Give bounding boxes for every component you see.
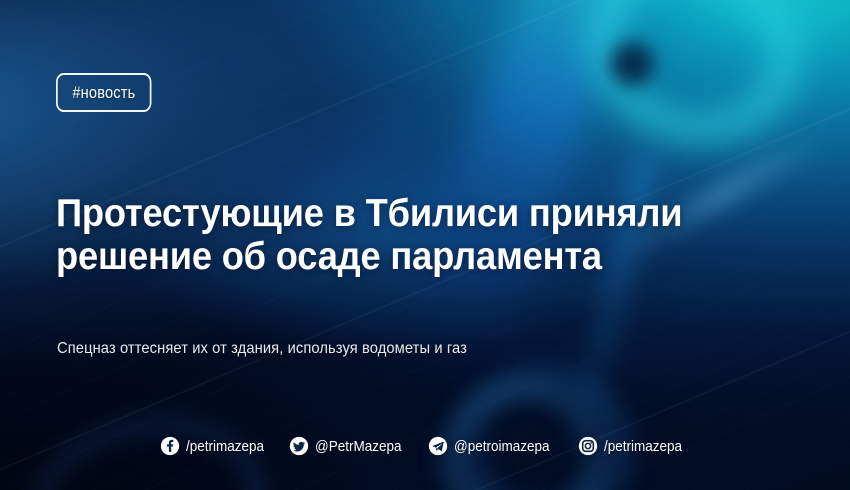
social-item-instagram[interactable]: /petrimazepa [578, 436, 691, 456]
card-content: #новость Протестующие в Тбилиси приняли … [0, 0, 850, 490]
headline: Протестующие в Тбилиси приняли решение о… [56, 192, 698, 278]
social-item-facebook[interactable]: /petrimazepa [160, 436, 273, 456]
social-label-telegram: @petroimazepa [454, 438, 550, 455]
facebook-icon [160, 436, 180, 456]
instagram-icon [578, 436, 598, 456]
social-item-twitter[interactable]: @PetrMazepa [289, 436, 411, 456]
social-label-twitter: @PetrMazepa [315, 438, 401, 455]
tag-badge-label: #новость [72, 83, 135, 103]
news-card: #новость Протестующие в Тбилиси приняли … [0, 0, 850, 490]
tag-badge[interactable]: #новость [56, 73, 152, 112]
twitter-icon [289, 436, 309, 456]
social-item-telegram[interactable]: @petroimazepa [428, 436, 560, 456]
telegram-icon [428, 436, 448, 456]
social-label-facebook: /petrimazepa [186, 438, 264, 455]
subtitle: Спецназ оттесняет их от здания, использу… [57, 340, 467, 358]
social-label-instagram: /petrimazepa [604, 438, 682, 455]
social-bar: /petrimazepa @PetrMazepa @petroimazepa [0, 436, 850, 456]
